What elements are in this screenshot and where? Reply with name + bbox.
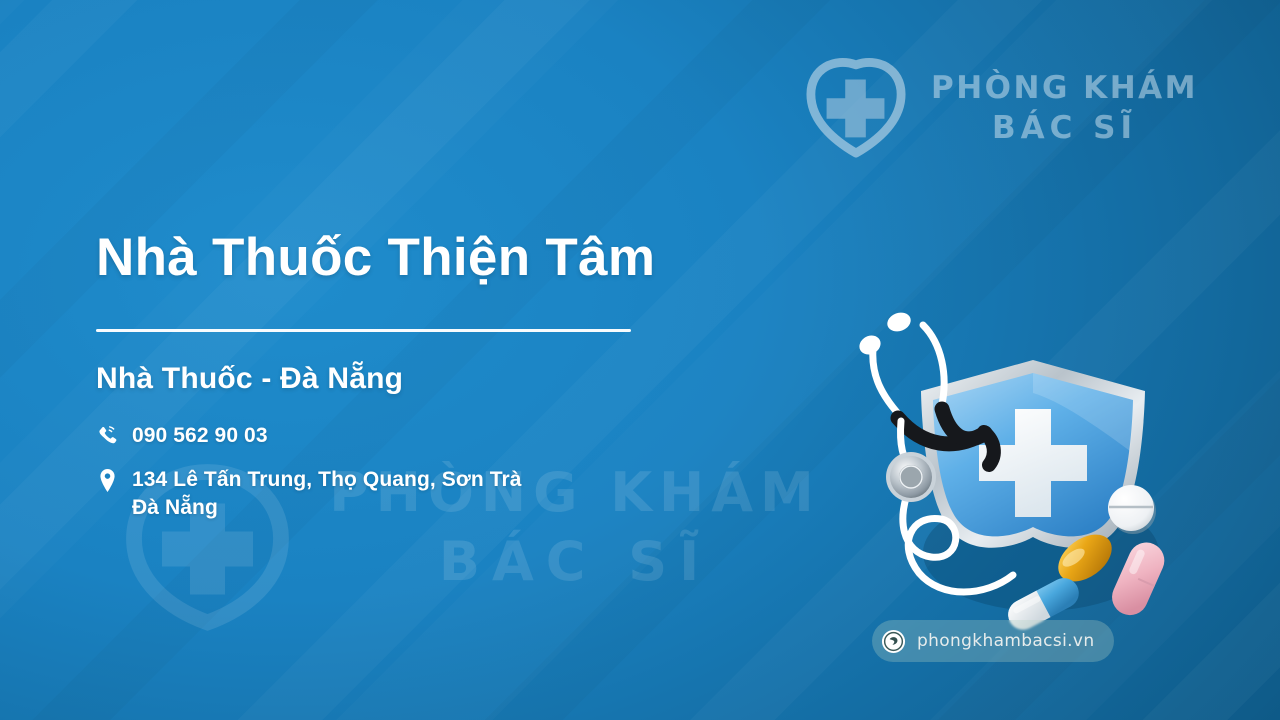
- contact-info: 090 562 90 03 134 Lê Tấn Trung, Thọ Quan…: [96, 422, 716, 521]
- illustration-svg: [845, 305, 1175, 620]
- medical-illustration: [845, 305, 1175, 620]
- phone-call-icon: [96, 422, 118, 446]
- brand-name-line-1: PHÒNG KHÁM: [931, 68, 1198, 108]
- page-title: Nhà Thuốc Thiện Tâm: [96, 228, 716, 287]
- brand-name-line-2: BÁC SĨ: [931, 108, 1198, 148]
- contact-phone-row[interactable]: 090 562 90 03: [96, 422, 716, 450]
- clinic-banner: PHÒNG KHÁM BÁC SĨ PHÒNG KHÁM BÁC SĨ Nhà …: [0, 0, 1280, 720]
- address: 134 Lê Tấn Trung, Thọ Quang, Sơn Trà Đà …: [132, 466, 522, 521]
- address-line-2: Đà Nẵng: [132, 494, 522, 522]
- title-divider: [96, 329, 631, 332]
- globe-swirl-icon: [881, 629, 906, 654]
- contact-address-row[interactable]: 134 Lê Tấn Trung, Thọ Quang, Sơn Trà Đà …: [96, 466, 716, 521]
- main-content: Nhà Thuốc Thiện Tâm Nhà Thuốc - Đà Nẵng …: [96, 228, 716, 538]
- phone-number: 090 562 90 03: [132, 422, 268, 450]
- brand-logo: PHÒNG KHÁM BÁC SĨ: [805, 58, 1198, 158]
- medical-cross-heart-logo-icon: [805, 58, 907, 158]
- website-badge[interactable]: phongkhambacsi.vn: [872, 620, 1114, 662]
- map-pin-icon: [96, 466, 118, 492]
- website-url: phongkhambacsi.vn: [917, 631, 1094, 651]
- page-subtitle: Nhà Thuốc - Đà Nẵng: [96, 362, 716, 396]
- brand-name: PHÒNG KHÁM BÁC SĨ: [931, 68, 1198, 149]
- address-line-1: 134 Lê Tấn Trung, Thọ Quang, Sơn Trà: [132, 468, 522, 491]
